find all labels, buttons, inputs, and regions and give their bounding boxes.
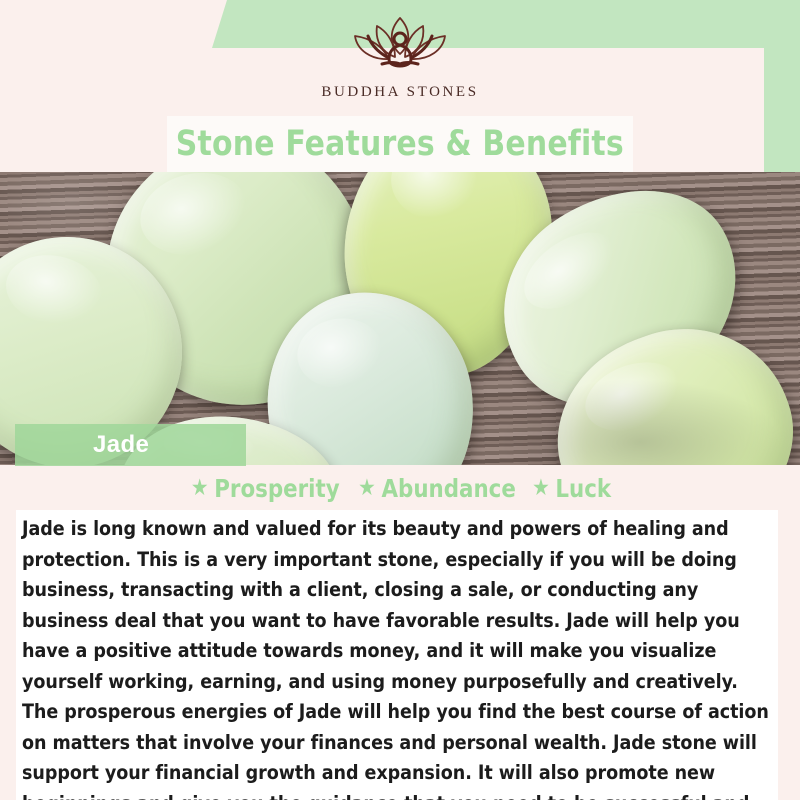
keyword-label: Prosperity xyxy=(214,474,339,503)
brand-header: BUDDHA STONES xyxy=(0,0,800,116)
page-title: Stone Features & Benefits xyxy=(176,124,624,164)
stone-name-label: Jade xyxy=(93,431,149,459)
stone-name-badge: Jade xyxy=(15,424,246,466)
stone-description: Jade is long known and valued for its be… xyxy=(16,514,778,800)
stone-photo-element xyxy=(253,279,488,465)
keyword-label: Luck xyxy=(555,474,611,503)
description-panel: Jade is long known and valued for its be… xyxy=(16,510,778,800)
keyword-luck: ★ Luck xyxy=(532,474,611,503)
stone-photo-element xyxy=(79,172,396,433)
keyword-abundance: ★ Abundance xyxy=(358,474,516,503)
stone-photo-element xyxy=(529,298,800,465)
brand-name: BUDDHA STONES xyxy=(321,84,478,101)
stone-photo xyxy=(0,172,800,465)
keyword-prosperity: ★ Prosperity xyxy=(191,474,340,503)
lotus-meditation-icon xyxy=(325,14,475,80)
stone-info-card: BUDDHA STONES Stone Features & Benefits … xyxy=(0,0,800,800)
star-icon: ★ xyxy=(532,477,550,500)
section-title-band: Stone Features & Benefits xyxy=(167,116,633,172)
star-icon: ★ xyxy=(358,477,376,500)
stone-photo-element xyxy=(463,172,778,448)
keyword-label: Abundance xyxy=(381,474,515,503)
stone-photo-element xyxy=(328,172,566,388)
stone-keyword-list: ★ Prosperity ★ Abundance ★ Luck xyxy=(0,465,800,505)
star-icon: ★ xyxy=(191,477,209,500)
stone-details-section: ★ Prosperity ★ Abundance ★ Luck Jade is … xyxy=(0,465,800,800)
